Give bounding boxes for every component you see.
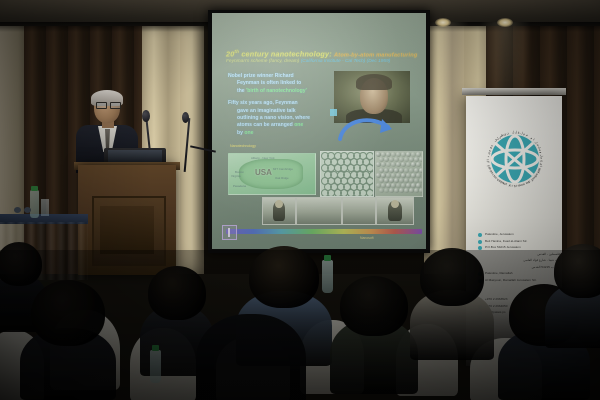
bullet-icon	[478, 233, 482, 237]
microphone-head-1	[142, 110, 150, 122]
ceiling-spotlight	[497, 18, 513, 27]
table-object	[14, 207, 21, 213]
audience-member	[410, 248, 494, 360]
bullet-icon	[478, 240, 482, 244]
logo-ring-char: و	[540, 157, 544, 159]
logo-circular-text: أكاديمية فلسطين للعلوم والتكنولوجياPales…	[484, 128, 546, 190]
banner-contact-line: Palestine, Jerusalem	[478, 232, 560, 237]
logo-ring-char: r	[512, 184, 513, 188]
audience-head	[420, 248, 484, 306]
banner-contact-text: Beit Hanina, Fuad al-Alami Str.	[485, 239, 527, 244]
banner-contact-line: Beit Hanina, Fuad al-Alami Str.	[478, 239, 560, 244]
logo-ring-char: ج	[540, 160, 544, 162]
academy-logo: أكاديمية فلسطين للعلوم والتكنولوجياPales…	[484, 128, 546, 190]
photo-scene: 20th century nanotechnology: Atom-by-ato…	[0, 0, 600, 400]
laptop-screen	[108, 150, 162, 162]
audience-group	[0, 250, 600, 400]
podium-front-inlay	[100, 206, 154, 254]
logo-ring-char: د	[486, 156, 490, 158]
logo-ring-char: ا	[486, 159, 490, 160]
eyeglasses-icon	[96, 102, 119, 107]
table-object	[24, 207, 31, 213]
audience-head	[340, 276, 408, 336]
water-bottle	[322, 260, 333, 293]
bottle-cap	[31, 186, 38, 191]
audience-member	[545, 244, 600, 348]
logo-ring-char: ن	[506, 131, 509, 135]
projection-screen: 20th century nanotechnology: Atom-by-ato…	[212, 13, 426, 249]
audience-member	[196, 314, 306, 400]
audience-head	[554, 244, 600, 298]
logo-ring-char: y	[505, 182, 508, 186]
drinking-glass	[41, 199, 49, 216]
ceiling-spotlight	[435, 18, 451, 27]
audience-shoulders	[196, 314, 306, 400]
logo-ring-char: ي	[486, 152, 490, 155]
screen-glare	[212, 13, 426, 249]
audience-head	[148, 266, 206, 320]
audience-head	[249, 246, 319, 308]
banner-top-rail	[462, 88, 566, 95]
logo-ring-char: م	[525, 133, 528, 137]
audience-head	[31, 280, 105, 346]
logo-ring-char: y	[538, 168, 542, 171]
bottle-cap	[152, 345, 159, 351]
audience-member	[330, 276, 418, 394]
bottle-cap	[324, 255, 331, 261]
audience-member	[20, 280, 116, 400]
water-bottle	[150, 350, 161, 383]
water-bottle-table	[30, 190, 39, 218]
logo-ring-char: ك	[486, 160, 490, 163]
microphone-head-2	[182, 112, 189, 123]
banner-contact-text: Palestine, Jerusalem	[485, 232, 514, 237]
